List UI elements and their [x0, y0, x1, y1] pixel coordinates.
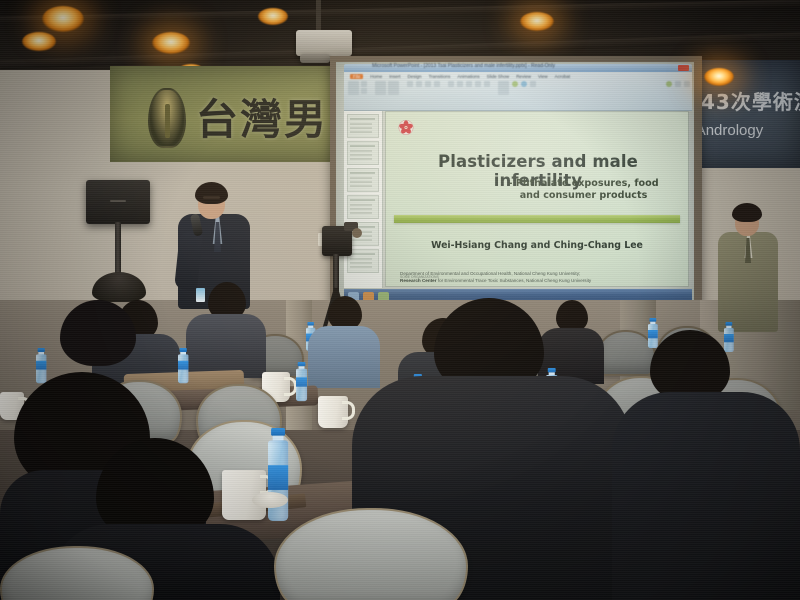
ceiling-spotlight-icon [704, 68, 734, 86]
tripod-column [333, 254, 339, 292]
audience-torso [186, 314, 266, 378]
coffee-mug [318, 396, 348, 428]
shape-fill-icon[interactable] [512, 81, 518, 87]
line-spacing-icon[interactable] [484, 81, 490, 87]
standing-attendee-hair [732, 203, 762, 222]
audience-head [328, 296, 362, 330]
ncku-plum-blossom-logo [396, 118, 416, 138]
ceiling-projector [296, 30, 352, 56]
align-center-icon[interactable] [475, 81, 481, 87]
slide-subtitle: - Phthalate exposures, food and consumer… [491, 178, 676, 203]
ribbon-group-clipboard[interactable] [348, 81, 367, 95]
conference-photo-scene: 台灣男 暨第43次學術演講會 on of Andrology Microsoft… [0, 0, 800, 600]
ceiling-spotlight-icon [42, 6, 84, 32]
powerpoint-title-bar: Microsoft PowerPoint - [2013 Tsai Plasti… [344, 64, 692, 72]
find-icon[interactable] [666, 81, 672, 87]
tab-transitions[interactable]: Transitions [429, 74, 451, 79]
tab-slide-show[interactable]: Slide Show [487, 74, 510, 79]
slide-subtitle-line-1: - Phthalate exposures, food [491, 178, 676, 190]
tab-file[interactable]: File [350, 74, 363, 79]
powerpoint-window-title: Microsoft PowerPoint - [2013 Tsai Plasti… [372, 63, 632, 69]
ceiling-spotlight-icon [520, 12, 554, 31]
slide-thumbnail[interactable] [347, 195, 379, 219]
new-slide-icon[interactable] [375, 81, 386, 95]
affiliation-line-1: Department of Environmental and Occupati… [400, 270, 678, 277]
ribbon-group-slides[interactable] [375, 81, 399, 95]
slide-footnote: SOME ORGANIZATIONS [400, 275, 439, 280]
projector-lens-housing [300, 54, 330, 63]
cut-icon[interactable] [361, 81, 367, 87]
quick-styles-icon[interactable] [530, 81, 536, 87]
bullets-icon[interactable] [448, 81, 454, 87]
tab-design[interactable]: Design [408, 74, 422, 79]
bold-icon[interactable] [407, 81, 413, 87]
bottle-label [178, 361, 188, 370]
affiliation-line-2: Research Center for Environmental Trace … [400, 277, 678, 284]
ribbon-group-paragraph[interactable] [448, 81, 490, 87]
slide-authors: Wei-Hsiang Chang and Ching-Chang Lee [394, 240, 680, 251]
slide-thumbnail[interactable] [347, 141, 379, 165]
close-icon[interactable] [678, 65, 689, 71]
copy-icon[interactable] [361, 88, 367, 94]
chair [596, 330, 656, 376]
affiliation-rest: for Environmental Trace Toxic Substances… [437, 278, 592, 283]
ceiling-beam [0, 0, 800, 23]
layout-icon[interactable] [388, 81, 399, 95]
slide-thumbnail[interactable] [347, 114, 379, 138]
shapes-icon[interactable] [498, 81, 509, 95]
name-badge [196, 288, 205, 302]
audience-torso [612, 392, 800, 600]
banner-left-text: 台灣男 [196, 86, 328, 147]
saucer [252, 492, 288, 508]
italic-icon[interactable] [416, 81, 422, 87]
ribbon-tab-strip: File Home Insert Design Transitions Anim… [346, 72, 692, 80]
slide-affiliation: Department of Environmental and Occupati… [400, 270, 678, 284]
ceiling-spotlight-icon [22, 32, 56, 51]
tab-home[interactable]: Home [370, 74, 382, 79]
tab-acrobat[interactable]: Acrobat [555, 74, 571, 79]
bottle-label [296, 377, 307, 386]
numbering-icon[interactable] [457, 81, 463, 87]
tab-view[interactable]: View [538, 74, 548, 79]
ribbon-groups [348, 81, 690, 107]
pa-speaker-icon [86, 180, 150, 224]
glasses-icon [203, 196, 220, 199]
bottle-label [268, 465, 288, 490]
ceiling-spotlight-icon [152, 32, 190, 54]
underline-icon[interactable] [425, 81, 431, 87]
powerpoint-ribbon: File Home Insert Design Transitions Anim… [344, 72, 692, 111]
bottle-cap [271, 428, 285, 436]
audience-torso [308, 326, 380, 388]
bottle-label [724, 334, 734, 342]
tab-review[interactable]: Review [516, 74, 531, 79]
slide-subtitle-line-2: and consumer products [491, 190, 676, 202]
banner-left: 台灣男 [110, 66, 340, 162]
slide-thumbnail[interactable] [347, 168, 379, 192]
ribbon-group-font[interactable] [407, 81, 440, 87]
align-left-icon[interactable] [466, 81, 472, 87]
projector-mount [316, 0, 321, 34]
bottle-label [36, 361, 46, 370]
font-size-icon[interactable] [434, 81, 440, 87]
bottle-label [648, 330, 658, 338]
slide-accent-bar [394, 215, 680, 223]
ceiling-spotlight-icon [258, 8, 288, 25]
torch-emblem-icon [148, 88, 186, 148]
paste-icon[interactable] [348, 81, 359, 95]
presentation-slide: Plasticizers and male infertility - Phth… [386, 112, 688, 286]
tab-insert[interactable]: Insert [389, 74, 400, 79]
projection-screen: Microsoft PowerPoint - [2013 Tsai Plasti… [336, 62, 694, 304]
select-icon[interactable] [684, 81, 690, 87]
presenter-hair [195, 182, 228, 204]
camera-knob [352, 228, 362, 238]
shape-outline-icon[interactable] [521, 81, 527, 87]
ribbon-group-drawing[interactable] [498, 81, 536, 95]
replace-icon[interactable] [675, 81, 681, 87]
tab-animations[interactable]: Animations [457, 74, 479, 79]
slide-thumbnail-pane[interactable] [344, 111, 383, 288]
ribbon-group-editing[interactable] [666, 81, 690, 87]
